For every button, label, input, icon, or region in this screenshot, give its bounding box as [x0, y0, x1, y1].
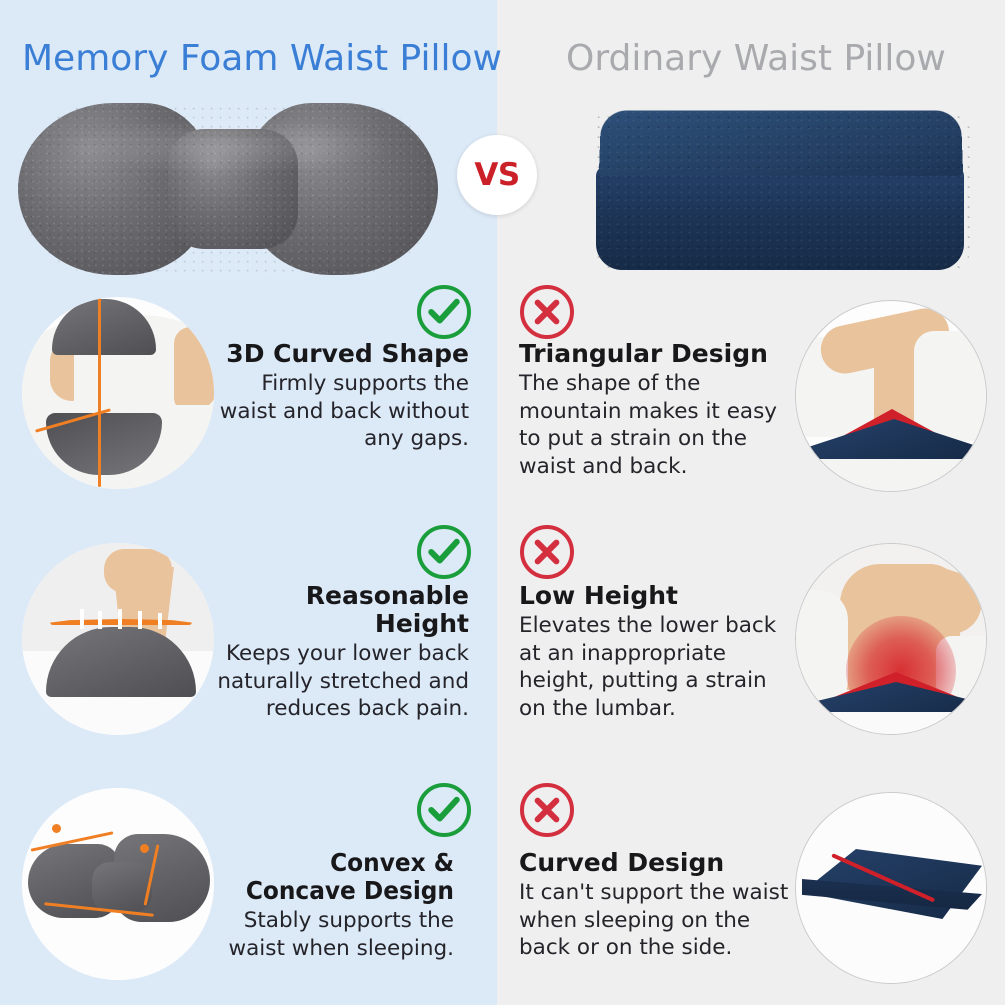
good-feature-title-1: 3D Curved Shape — [209, 340, 469, 368]
check-circle-icon-2 — [417, 525, 471, 579]
ordinary-pillow-hero-image — [592, 110, 970, 272]
x-circle-icon-3 — [520, 783, 574, 837]
bad-feature-title-1: Triangular Design — [519, 340, 791, 368]
vs-badge: VS — [457, 135, 537, 215]
bad-feature-body-1: The shape of the mountain makes it easy … — [519, 370, 791, 481]
bad-feature-photo-1 — [795, 300, 987, 492]
bad-feature-body-3: It can't support the waist when sleeping… — [519, 879, 791, 962]
bad-feature-text-2: Low Height Elevates the lower back at an… — [519, 582, 791, 723]
bad-feature-title-2: Low Height — [519, 582, 791, 610]
bad-feature-photo-2 — [795, 543, 987, 735]
check-circle-icon-1 — [417, 285, 471, 339]
memory-foam-pillow-hero-image — [18, 103, 438, 275]
comparison-infographic: Memory Foam Waist Pillow Ordinary Waist … — [0, 0, 1005, 1005]
good-feature-body-3: Stably supports the waist when sleeping. — [194, 907, 454, 962]
right-column-title: Ordinary Waist Pillow — [566, 32, 946, 86]
good-feature-title-3: Convex & Concave Design — [212, 849, 454, 905]
check-circle-icon-3 — [417, 783, 471, 837]
bad-feature-text-1: Triangular Design The shape of the mount… — [519, 340, 791, 481]
x-circle-icon-2 — [520, 525, 574, 579]
bad-feature-title-3: Curved Design — [519, 849, 791, 877]
bad-feature-body-2: Elevates the lower back at an inappropri… — [519, 612, 791, 723]
good-feature-photo-1 — [22, 297, 214, 489]
good-feature-text-3: Convex & Concave Design Stably supports … — [194, 849, 454, 962]
good-feature-title-2: Reasonable Height — [209, 582, 469, 638]
good-feature-text-2: Reasonable Height Keeps your lower back … — [209, 582, 469, 723]
good-feature-body-2: Keeps your lower back naturally stretche… — [209, 640, 469, 723]
good-feature-body-1: Firmly supports the waist and back witho… — [209, 370, 469, 453]
left-column-title: Memory Foam Waist Pillow — [22, 32, 502, 86]
good-feature-text-1: 3D Curved Shape Firmly supports the wais… — [209, 340, 469, 453]
bad-feature-text-3: Curved Design It can't support the waist… — [519, 849, 791, 962]
good-feature-photo-3 — [22, 788, 214, 980]
good-feature-photo-2 — [22, 543, 214, 735]
bad-feature-photo-3 — [795, 792, 987, 984]
x-circle-icon-1 — [520, 285, 574, 339]
